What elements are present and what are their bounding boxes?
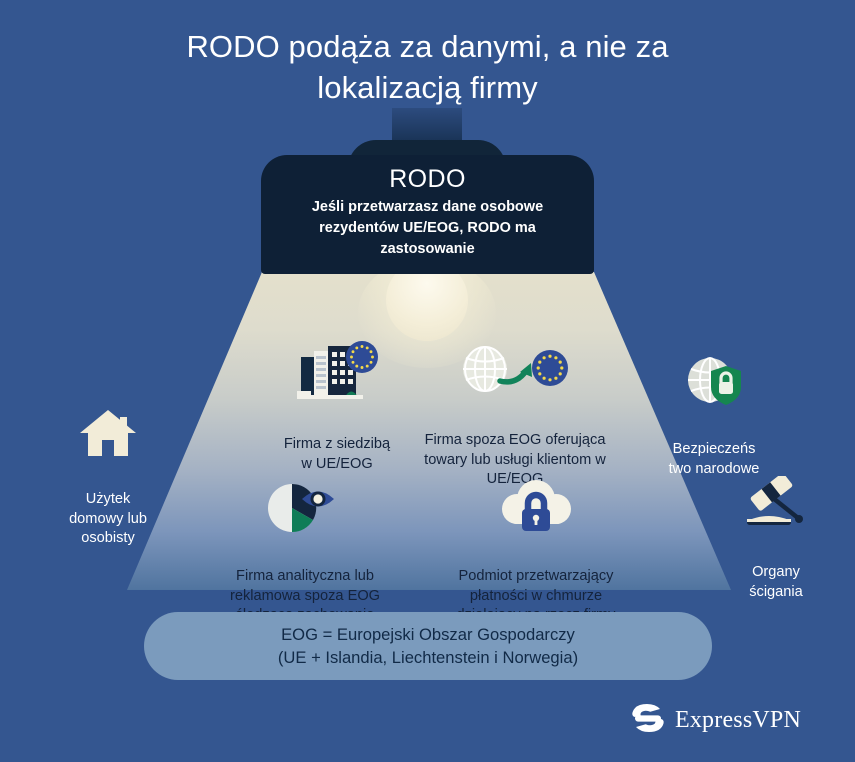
- gavel-icon: [712, 457, 840, 539]
- globe-arrow-eu-flag-icon: [404, 324, 626, 406]
- footnote-text: EOG = Europejski Obszar Gospodarczy (UE …: [278, 623, 578, 669]
- globe-shield-lock-icon: [650, 336, 778, 416]
- item-label: Organy ścigania: [749, 564, 803, 600]
- lamp-shade: RODO Jeśli przetwarzasz dane osobowe rez…: [261, 155, 594, 274]
- expressvpn-e-mark-icon: [630, 703, 666, 738]
- house-icon: [44, 388, 172, 466]
- expressvpn-wordmark: ExpressVPN: [675, 707, 801, 734]
- lamp-shade-content: RODO Jeśli przetwarzasz dane osobowe rez…: [261, 155, 594, 274]
- infographic-canvas: RODO podąża za danymi, a nie za lokaliza…: [0, 0, 855, 762]
- page-title: RODO podąża za danymi, a nie za lokaliza…: [0, 26, 855, 108]
- item-law-enforcement: Organy ścigania: [712, 437, 840, 602]
- footnote-pill: EOG = Europejski Obszar Gospodarczy (UE …: [144, 612, 712, 680]
- item-household-personal-use: Użytek domowy lub osobisty: [44, 368, 172, 549]
- lamp-heading: RODO: [261, 164, 594, 194]
- lamp-subtext: Jeśli przetwarzasz dane osobowe rezydent…: [261, 197, 594, 260]
- office-buildings-eu-flag-icon: [247, 322, 427, 410]
- pie-chart-eye-icon: [205, 460, 405, 542]
- item-label: Użytek domowy lub osobisty: [69, 491, 147, 546]
- cloud-padlock-icon: [436, 460, 636, 542]
- expressvpn-logo: ExpressVPN: [630, 704, 801, 736]
